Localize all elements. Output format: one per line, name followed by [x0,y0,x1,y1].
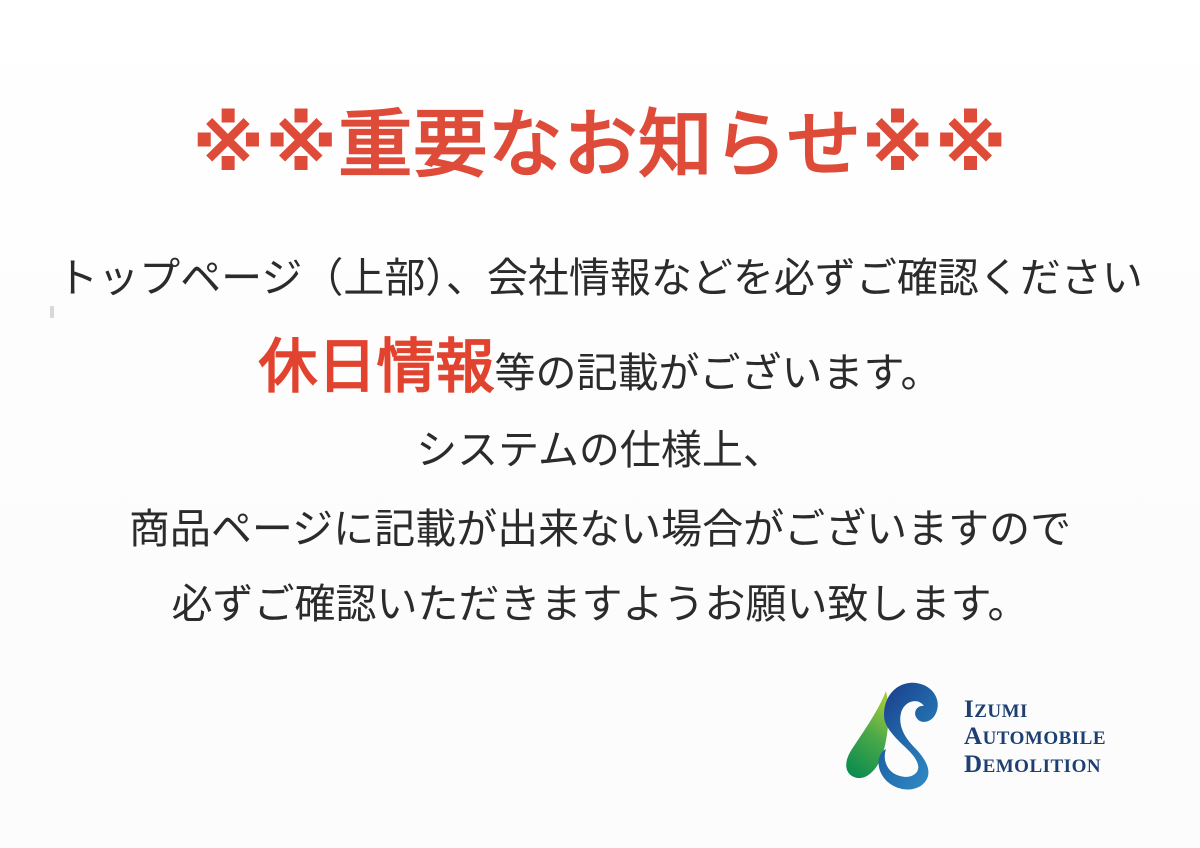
notice-line-4: 商品ページに記載が出来ない場合がございますので [0,509,1200,550]
holiday-info-highlight: 休日情報 [259,337,495,396]
logo-demolition-rest: EMOLITION [983,756,1102,777]
logo-demolition-cap: D [964,751,983,778]
notice-line-1: トップページ（上部）、会社情報などを必ずご確認ください [0,258,1200,299]
notice-sheet: ※※重要なお知らせ※※ トップページ（上部）、会社情報などを必ずご確認ください … [0,0,1200,848]
logo-line-demolition: DEMOLITION [964,751,1106,779]
notice-line-3: システムの仕様上、 [0,430,1200,471]
logo-line-automobile: AUTOMOBILE [964,723,1106,751]
logo-automobile-rest: UTOMOBILE [983,728,1106,749]
logo-automobile-cap: A [964,723,983,750]
izumi-swirl-leaf-icon [838,675,954,793]
logo-izumi-cap: I [964,696,974,723]
company-logo: IZUMI AUTOMOBILE DEMOLITION [838,672,1128,796]
page-title: ※※重要なお知らせ※※ [0,104,1200,187]
logo-izumi-rest: ZUMI [974,701,1028,722]
logo-wordmark: IZUMI AUTOMOBILE DEMOLITION [964,696,1106,779]
notice-body: トップページ（上部）、会社情報などを必ずご確認ください 休日情報等の記載がござい… [0,258,1200,625]
notice-line-2: 休日情報等の記載がございます。 [0,337,1200,396]
notice-line-5: 必ずご確認いただきますようお願い致します。 [0,584,1200,625]
logo-line-izumi: IZUMI [964,696,1106,724]
notice-line-2-rest: 等の記載がございます。 [495,353,942,394]
